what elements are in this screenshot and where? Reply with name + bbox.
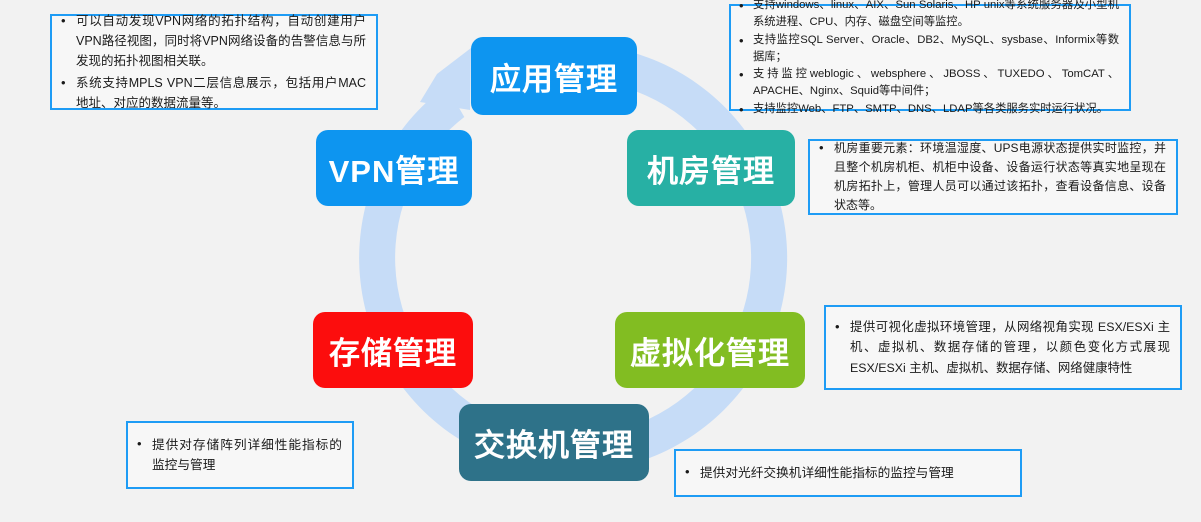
list-item: 系统支持MPLS VPN二层信息展示，包括用户MAC地址、对应的数据流量等。 xyxy=(76,73,366,114)
list-item: 支持windows、linux、AIX、Sun Solaris、HP unix等… xyxy=(753,0,1119,31)
callout-switch-management: 提供对光纤交换机详细性能指标的监控与管理 xyxy=(674,449,1022,497)
list-item: 支持监控Web、FTP、SMTP、DNS、LDAP等各类服务实时运行状况。 xyxy=(753,101,1119,118)
callout-switch-list: 提供对光纤交换机详细性能指标的监控与管理 xyxy=(676,462,1020,484)
list-item: 提供可视化虚拟环境管理，从网络视角实现 ESX/ESXi 主机、虚拟机、数据存储… xyxy=(850,317,1170,378)
list-item: 提供对光纤交换机详细性能指标的监控与管理 xyxy=(700,463,1010,483)
callout-vpn-list: 可以自动发现VPN网络的拓扑结构，自动创建用户VPN路径视图，同时将VPN网络设… xyxy=(52,10,376,114)
node-room-management[interactable]: 机房管理 xyxy=(627,130,795,206)
list-item: 可以自动发现VPN网络的拓扑结构，自动创建用户VPN路径视图，同时将VPN网络设… xyxy=(76,11,366,72)
callout-virtualization-management: 提供可视化虚拟环境管理，从网络视角实现 ESX/ESXi 主机、虚拟机、数据存储… xyxy=(824,305,1182,390)
node-switch-management-label: 交换机管理 xyxy=(474,420,634,465)
node-storage-management[interactable]: 存储管理 xyxy=(313,312,473,388)
node-virtualization-management[interactable]: 虚拟化管理 xyxy=(615,312,805,388)
callout-vpn-management: 可以自动发现VPN网络的拓扑结构，自动创建用户VPN路径视图，同时将VPN网络设… xyxy=(50,14,378,110)
node-storage-management-label: 存储管理 xyxy=(329,328,457,373)
list-item: 支持监控weblogic、websphere、JBOSS、TUXEDO、TomC… xyxy=(753,66,1119,100)
node-virtualization-management-label: 虚拟化管理 xyxy=(630,328,790,373)
callout-storage-list: 提供对存储阵列详细性能指标的监控与管理 xyxy=(128,434,352,477)
node-room-management-label: 机房管理 xyxy=(647,146,775,191)
node-vpn-management-label: VPN管理 xyxy=(329,146,460,191)
node-app-management-label: 应用管理 xyxy=(490,54,618,99)
list-item: 机房重要元素：环境温湿度、UPS电源状态提供实时监控，并且整个机房机柜、机柜中设… xyxy=(834,139,1166,216)
list-item: 提供对存储阵列详细性能指标的监控与管理 xyxy=(152,435,342,476)
callout-virtualization-list: 提供可视化虚拟环境管理，从网络视角实现 ESX/ESXi 主机、虚拟机、数据存储… xyxy=(826,316,1180,379)
diagram-canvas: 应用管理 VPN管理 机房管理 存储管理 虚拟化管理 交换机管理 可以自动发现V… xyxy=(0,0,1201,522)
ring-arrowhead xyxy=(420,48,471,110)
callout-app-list: 支持windows、linux、AIX、Sun Solaris、HP unix等… xyxy=(731,0,1129,119)
list-item: 支持监控SQL Server、Oracle、DB2、MySQL、sysbase、… xyxy=(753,32,1119,66)
callout-app-management: 支持windows、linux、AIX、Sun Solaris、HP unix等… xyxy=(729,4,1131,111)
node-switch-management[interactable]: 交换机管理 xyxy=(459,404,649,481)
node-app-management[interactable]: 应用管理 xyxy=(471,37,637,115)
callout-room-list: 机房重要元素：环境温湿度、UPS电源状态提供实时监控，并且整个机房机柜、机柜中设… xyxy=(810,138,1176,217)
callout-storage-management: 提供对存储阵列详细性能指标的监控与管理 xyxy=(126,421,354,489)
callout-room-management: 机房重要元素：环境温湿度、UPS电源状态提供实时监控，并且整个机房机柜、机柜中设… xyxy=(808,139,1178,215)
node-vpn-management[interactable]: VPN管理 xyxy=(316,130,472,206)
